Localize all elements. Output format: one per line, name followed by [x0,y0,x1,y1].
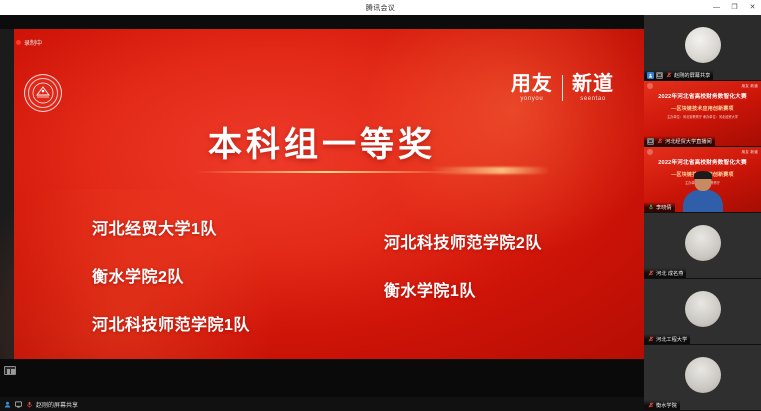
maximize-button[interactable]: ❐ [730,4,739,11]
winner-item: 河北经贸大学1队 [92,215,340,239]
participant-name: 衡水学院 [656,402,677,409]
avatar [685,27,721,63]
title-underline [196,171,456,173]
share-top-strip [0,15,644,29]
slide-left-margin [0,29,14,359]
microphone-icon [25,400,33,408]
screen-share-icon [14,400,22,408]
participant-name: 赵刚的屏幕共享 [674,72,710,79]
tile-slide-title: 2022年河北省高校财务数智化大赛 [648,160,757,166]
title-bar: 腾讯会议 — ❐ ✕ [0,0,761,15]
avatar [685,225,721,261]
winner-item: 河北科技师范学院2队 [384,229,612,253]
winners-column-left: 河北经贸大学1队 衡水学院2队 河北科技师范学院1队 [92,215,340,335]
share-status-bar: 赵刚的屏幕共享 [0,397,644,411]
participant-label: 河北工程大学 [644,334,690,344]
logo-yonyou-cn: 用友 [511,74,553,94]
participant-name: 河北工程大学 [656,336,687,343]
participant-tile[interactable]: 河北工程大学 [644,279,761,345]
recording-label: 录制中 [24,38,42,47]
microphone-muted-icon [647,270,654,277]
winner-item: 河北科技师范学院1队 [92,311,340,335]
participant-tile[interactable]: 河北 成名燕 [644,213,761,279]
participant-label: 河北 成名燕 [644,268,686,278]
logo-yonyou-en: yonyou [511,96,553,102]
recording-dot-icon [16,40,21,45]
presentation-slide: 录制中 用友 yonyou [0,29,644,359]
participant-label: 李晓倩 [644,202,675,212]
slide-footer-bar [0,359,644,397]
university-emblem-icon [24,74,62,112]
logo-seentao-cn: 新道 [572,74,614,94]
host-badge-icon [647,72,654,79]
participant-name: 河北 成名燕 [656,270,683,277]
participant-label: 河北经贸大学直播间 [644,136,715,146]
tile-emblem-icon [647,149,653,155]
participant-icon [3,400,11,408]
participant-tile[interactable]: 赵刚的屏幕共享 [644,15,761,81]
tile-emblem-icon [647,83,653,89]
microphone-muted-icon [656,138,663,145]
logo-divider [562,75,563,101]
winner-item: 衡水学院2队 [92,263,340,287]
window-title: 腾讯会议 [366,3,395,13]
microphone-muted-icon [665,72,672,79]
minimize-button[interactable]: — [712,4,721,11]
speaker-video-figure [683,172,723,212]
participant-tile[interactable]: 用友 新道 2022年河北省高校财务数智化大赛 —区块链技术应用创新赛项 主办单… [644,147,761,213]
close-button[interactable]: ✕ [748,4,757,11]
tile-brand-label: 用友 新道 [742,84,758,89]
participant-tile[interactable]: 用友 新道 2022年河北省高校财务数智化大赛 —区块链技术应用创新赛项 主办单… [644,81,761,147]
emblem-inner [28,78,58,108]
share-status-text: 赵刚的屏幕共享 [36,400,78,409]
tile-slide-header: 用友 新道 [647,83,758,89]
avatar [685,357,721,393]
microphone-muted-icon [647,402,654,409]
sponsor-logo: 用友 yonyou 新道 seentao [511,74,614,102]
participant-name: 河北经贸大学直播间 [665,138,712,145]
window-controls: — ❐ ✕ [712,0,757,15]
title-spark-decoration [430,167,550,174]
meeting-window: 腾讯会议 — ❐ ✕ 录制中 [0,0,761,411]
participant-label: 衡水学院 [644,400,680,410]
winners-list: 河北经贸大学1队 衡水学院2队 河北科技师范学院1队 河北科技师范学院2队 衡水… [92,215,612,335]
participant-rail[interactable]: 赵刚的屏幕共享 用友 新道 2022年河北省高校财务数智化大赛 —区块链技术应用… [644,15,761,411]
screen-share-badge-icon [656,72,663,79]
participant-name: 李晓倩 [656,204,672,211]
shared-screen-stage[interactable]: 录制中 用友 yonyou [0,15,644,411]
speaker-body [683,190,723,212]
microphone-muted-icon [647,336,654,343]
tile-brand-label: 用友 新道 [742,150,758,155]
tile-slide-subtitle: —区块链技术应用创新赛项 [648,105,757,112]
avatar [685,291,721,327]
tile-slide-title: 2022年河北省高校财务数智化大赛 [648,94,757,100]
logo-seentao-en: seentao [572,96,614,102]
participant-tile[interactable]: 衡水学院 [644,345,761,411]
logo-yonyou: 用友 yonyou [511,74,553,102]
tile-slide-header: 用友 新道 [647,149,758,155]
microphone-active-icon [647,204,654,211]
recording-indicator: 录制中 [16,38,42,47]
thumbnail-panel-icon[interactable] [4,366,16,375]
slide-title: 本科组一等奖 [0,117,644,166]
screen-share-badge-icon [647,138,654,145]
participant-label: 赵刚的屏幕共享 [644,70,713,80]
winners-column-right: 河北科技师范学院2队 衡水学院1队 [384,215,612,335]
logo-seentao: 新道 seentao [572,74,614,102]
speaker-hair [694,171,712,179]
tile-slide-footnote: 主办单位：河北省教育厅 承办单位：河北经贸大学 [650,115,755,120]
winner-item: 衡水学院1队 [384,277,612,301]
